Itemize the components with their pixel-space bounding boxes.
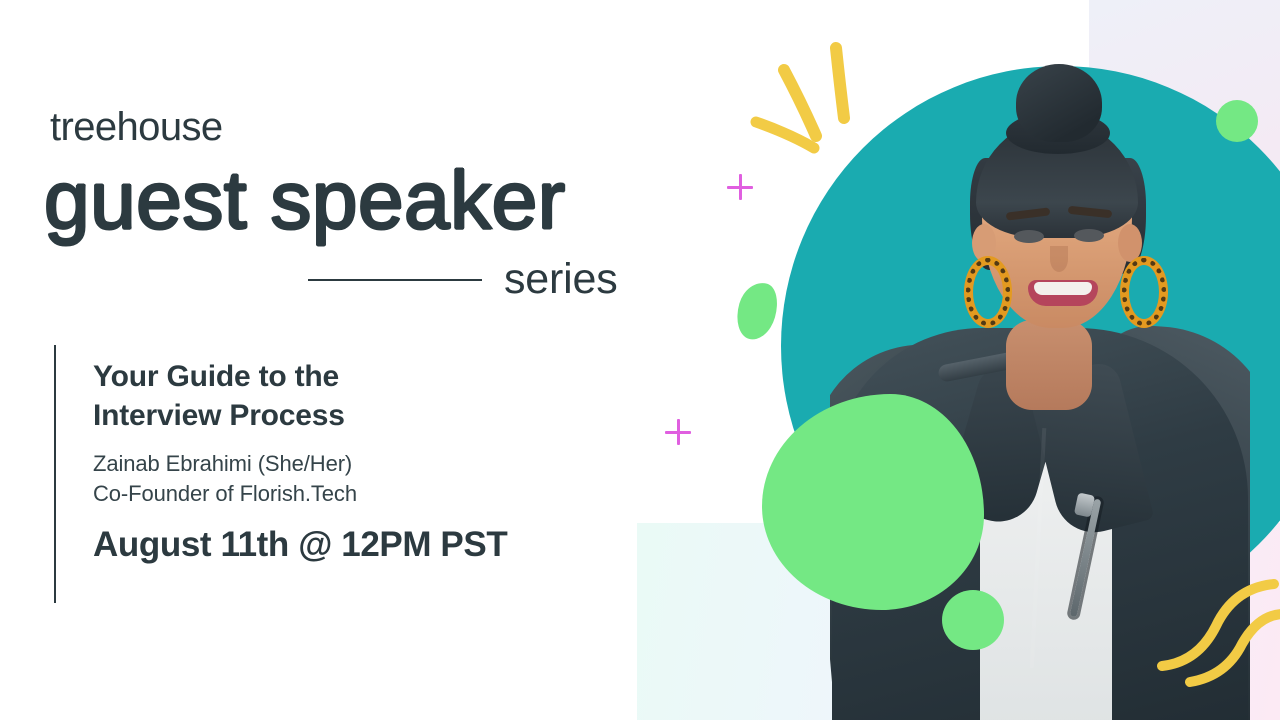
plus-icon-top xyxy=(727,174,753,200)
series-divider-rule xyxy=(308,279,482,281)
plus-icon-bottom xyxy=(665,419,691,445)
speaker-name: Zainab Ebrahimi (She/Her) xyxy=(93,449,507,479)
session-title-line2: Interview Process xyxy=(93,399,345,432)
spark-burst-icon xyxy=(740,30,900,170)
event-datetime: August 11th @ 12PM PST xyxy=(93,526,507,565)
session-title: Your Guide to the Interview Process xyxy=(93,357,507,435)
green-dot-bottom xyxy=(942,590,1004,650)
text-column: treehouse guest speaker series Your Guid… xyxy=(0,0,660,720)
green-dot-top-right xyxy=(1216,100,1258,142)
session-details: Your Guide to the Interview Process Zain… xyxy=(54,345,507,603)
earring-right-icon xyxy=(1120,256,1168,328)
promo-banner: treehouse guest speaker series Your Guid… xyxy=(0,0,1280,720)
brand-wordmark: treehouse xyxy=(50,107,223,147)
session-title-line1: Your Guide to the xyxy=(93,360,339,393)
green-blob-small xyxy=(731,278,784,344)
headline-outline-text: guest speaker xyxy=(44,160,566,242)
series-row: series xyxy=(308,258,618,301)
speaker-role: Co-Founder of Florish.Tech xyxy=(93,479,507,509)
series-label: series xyxy=(504,258,618,301)
wavy-lines-icon xyxy=(1150,570,1280,720)
earring-left-icon xyxy=(964,256,1012,328)
